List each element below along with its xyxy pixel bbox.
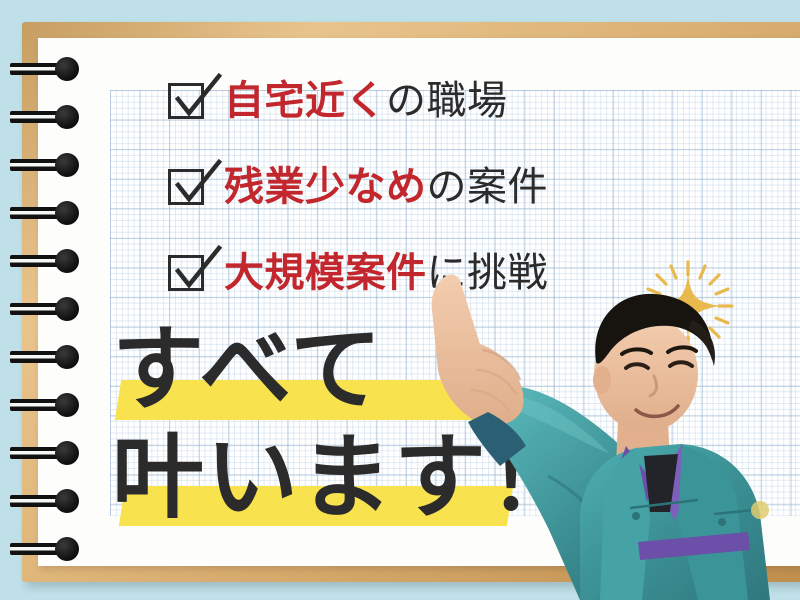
worker-figure bbox=[432, 274, 770, 600]
checklist-item-highlight: 大規模案件 bbox=[224, 250, 427, 296]
worker-illustration bbox=[430, 270, 800, 600]
checklist-item: 残業少なめの案件 bbox=[168, 144, 688, 230]
spiral-ring-icon bbox=[10, 248, 88, 274]
spiral-ring-icon bbox=[10, 104, 88, 130]
checklist-item: 自宅近くの職場 bbox=[168, 58, 688, 144]
spiral-ring-icon bbox=[10, 152, 88, 178]
spiral-ring-icon bbox=[10, 344, 88, 370]
checked-box-icon bbox=[168, 255, 204, 291]
spiral-ring-icon bbox=[10, 440, 88, 466]
poster-canvas: 自宅近くの職場 残業少なめの案件 大規模案件に挑戦 すべて bbox=[0, 0, 800, 600]
spiral-ring-icon bbox=[10, 56, 88, 82]
pointing-hand-icon bbox=[432, 274, 524, 425]
headline-text: すべて bbox=[112, 322, 384, 419]
checklist-item-highlight: 自宅近く bbox=[224, 78, 386, 124]
spiral-binding bbox=[0, 0, 120, 600]
checklist-item-text: 残業少なめの案件 bbox=[224, 167, 548, 207]
checklist-item-text: 自宅近くの職場 bbox=[224, 81, 508, 121]
checked-box-icon bbox=[168, 83, 204, 119]
spiral-ring-icon bbox=[10, 488, 88, 514]
checklist-item-rest: の職場 bbox=[386, 78, 508, 124]
spiral-ring-icon bbox=[10, 536, 88, 562]
spiral-ring-icon bbox=[10, 392, 88, 418]
checked-box-icon bbox=[168, 169, 204, 205]
worker-shoulder-emblem bbox=[751, 501, 769, 519]
spiral-ring-icon bbox=[10, 200, 88, 226]
checklist-item-highlight: 残業少なめ bbox=[224, 164, 427, 210]
spiral-ring-icon bbox=[10, 296, 88, 322]
checklist-item-rest: の案件 bbox=[427, 164, 549, 210]
